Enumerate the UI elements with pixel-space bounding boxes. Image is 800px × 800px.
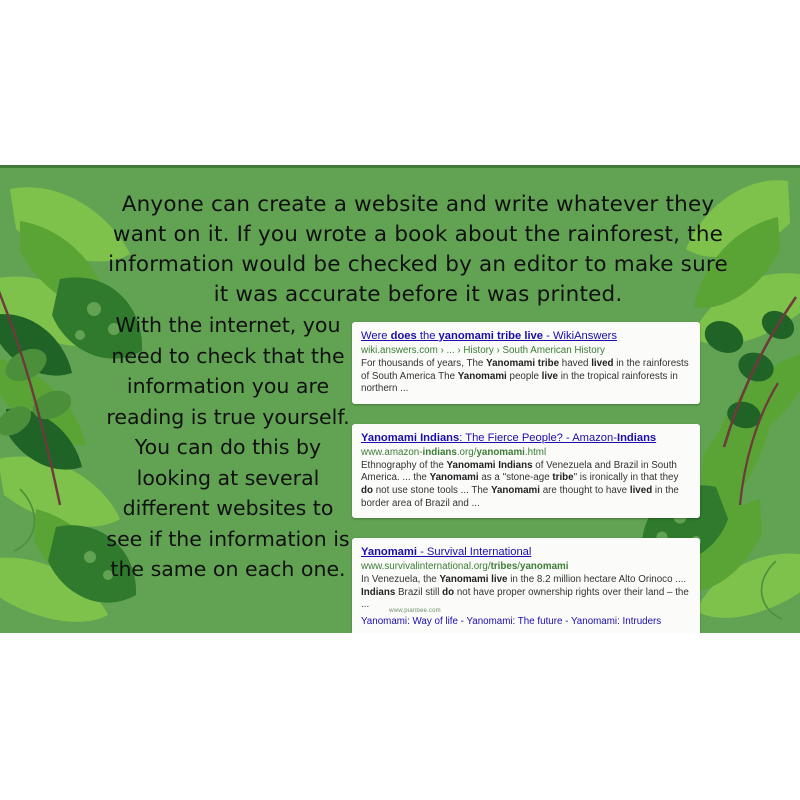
result-url: www.survivalinternational.org/tribes/yan… [361,560,691,573]
presentation-slide: Anyone can create a website and write wh… [0,165,800,633]
result-snippet: In Venezuela, the Yanomami live in the 8… [361,574,691,612]
result-title-link[interactable]: Were does the yanomami tribe live - Wiki… [361,329,691,343]
search-result-card[interactable]: Were does the yanomami tribe live - Wiki… [352,322,700,404]
result-url: www.amazon-indians.org/yanomami.html [361,446,691,459]
watermark: www.pianbee.com [330,608,500,614]
result-snippet: Ethnography of the Yanomami Indians of V… [361,460,691,510]
result-url: wiki.answers.com › ... › History › South… [361,344,691,357]
slide-body-text: With the internet, you need to check tha… [104,310,352,585]
search-result-card[interactable]: Yanomami Indians: The Fierce People? - A… [352,424,700,518]
slide-top-border [0,165,800,168]
slide-canvas: Anyone can create a website and write wh… [0,0,800,800]
search-results-list: Were does the yanomami tribe live - Wiki… [352,322,700,633]
result-title-link[interactable]: Yanomami Indians: The Fierce People? - A… [361,431,691,445]
result-title-link[interactable]: Yanomami - Survival International [361,545,691,559]
result-snippet: For thousands of years, The Yanomami tri… [361,358,691,396]
search-result-card[interactable]: Yanomami - Survival International www.su… [352,538,700,633]
result-sitelinks[interactable]: Yanomami: Way of life - Yanomami: The fu… [361,615,691,629]
slide-headline: Anyone can create a website and write wh… [108,190,728,310]
